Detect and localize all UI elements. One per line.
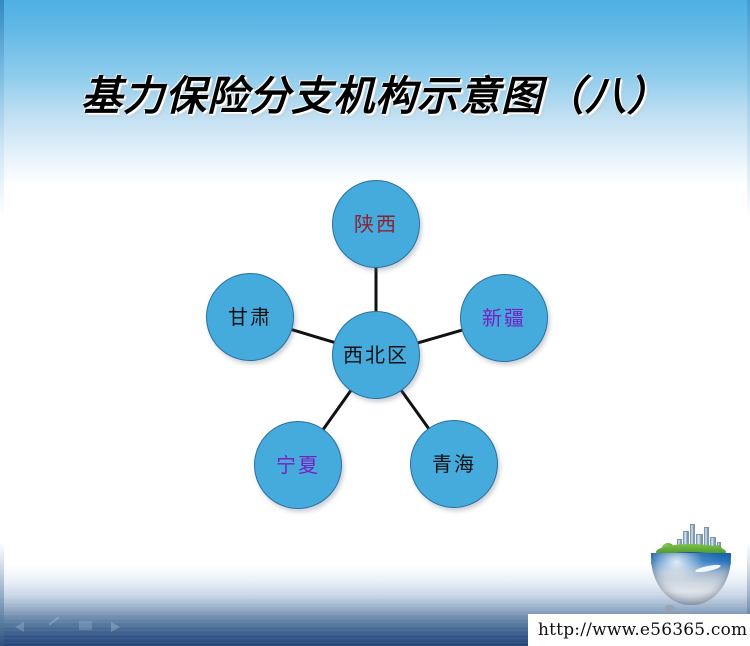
globe-sphere — [651, 553, 731, 605]
diagram-node-ningxia-label: 宁夏 — [276, 455, 320, 475]
rectangle-icon[interactable] — [78, 619, 94, 632]
diagram-node-gansu-label: 甘肃 — [228, 307, 272, 327]
diagram-node-center-label: 西北区 — [343, 345, 409, 365]
presenter-toolbar — [14, 614, 146, 636]
site-url[interactable]: http://www.e56365.com — [538, 620, 747, 640]
diagram-node-gansu[interactable]: 甘肃 — [206, 273, 294, 361]
pen-icon[interactable] — [46, 619, 62, 632]
globe-city-logo — [645, 521, 737, 605]
diagram-node-qinghai[interactable]: 青海 — [410, 420, 498, 508]
diagram-node-shaanxi[interactable]: 陕西 — [332, 180, 420, 268]
url-watermark-box: http://www.e56365.com — [528, 614, 750, 646]
diagram-node-ningxia[interactable]: 宁夏 — [254, 421, 342, 509]
org-chart-diagram: 西北区 陕西 新疆 青海 宁夏 甘肃 — [0, 0, 750, 646]
forward-arrow-icon[interactable] — [110, 619, 126, 632]
diagram-node-shaanxi-label: 陕西 — [354, 214, 398, 234]
diagram-node-qinghai-label: 青海 — [432, 454, 476, 474]
diagram-node-center[interactable]: 西北区 — [332, 311, 420, 399]
diagram-node-xinjiang[interactable]: 新疆 — [460, 274, 548, 362]
diagram-node-xinjiang-label: 新疆 — [482, 308, 526, 328]
back-arrow-icon[interactable] — [14, 619, 30, 632]
presentation-slide: 基力保险分支机构示意图（八） 西北区 陕西 新疆 青海 宁夏 甘肃 — [0, 0, 750, 646]
